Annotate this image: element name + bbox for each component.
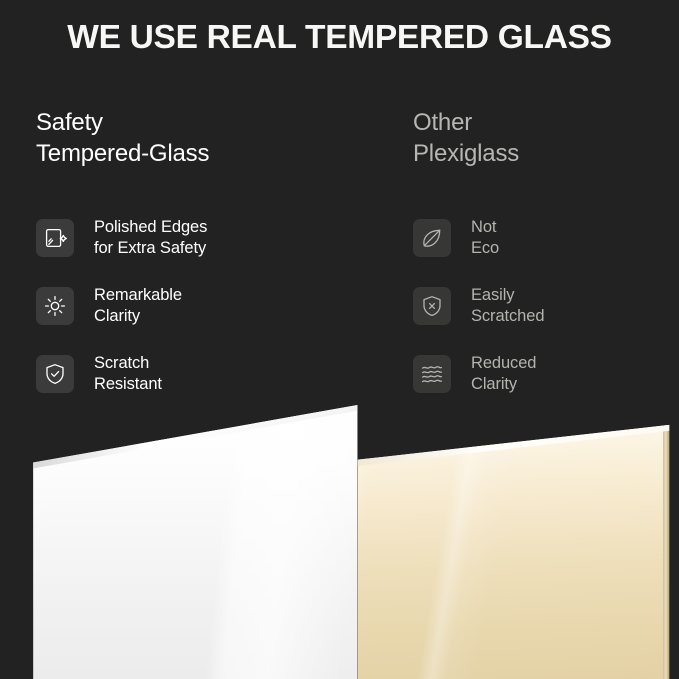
feature-label: Scratch Resistant xyxy=(94,353,162,395)
product-photo xyxy=(0,396,679,679)
page-title: WE USE REAL TEMPERED GLASS xyxy=(0,19,679,57)
plexiglass-panel-edge xyxy=(663,396,669,679)
feature-label: Polished Edges for Extra Safety xyxy=(94,217,207,259)
feature-row-polished-edges: Polished Edges for Extra Safety xyxy=(36,204,366,272)
column-other-plexiglass: Other Plexiglass Not Eco xyxy=(413,107,679,408)
column-title-other: Other Plexiglass xyxy=(413,107,679,169)
plexiglass-panel xyxy=(355,396,675,679)
feature-list-plexiglass: Not Eco Easily Scratched xyxy=(413,204,679,408)
polished-edge-sparkle-icon xyxy=(36,219,74,257)
column-title-safety: Safety Tempered-Glass xyxy=(36,107,366,169)
wavy-lines-icon xyxy=(413,355,451,393)
feature-label: Reduced Clarity xyxy=(471,353,536,395)
leaf-crossed-out-icon xyxy=(413,219,451,257)
feature-label: Remarkable Clarity xyxy=(94,285,182,327)
feature-list-safety: Polished Edges for Extra Safety Remarkab… xyxy=(36,204,366,408)
feature-row-easily-scratched: Easily Scratched xyxy=(413,272,679,340)
feature-row-not-eco: Not Eco xyxy=(413,204,679,272)
feature-label: Not Eco xyxy=(471,217,499,259)
feature-row-remarkable-clarity: Remarkable Clarity xyxy=(36,272,366,340)
shield-check-icon xyxy=(36,355,74,393)
feature-label: Easily Scratched xyxy=(471,285,544,327)
shield-x-icon xyxy=(413,287,451,325)
column-safety-tempered-glass: Safety Tempered-Glass Polished Edges for… xyxy=(36,107,366,408)
comparison-infographic: WE USE REAL TEMPERED GLASS Safety Temper… xyxy=(0,0,679,679)
sun-clarity-icon xyxy=(36,287,74,325)
